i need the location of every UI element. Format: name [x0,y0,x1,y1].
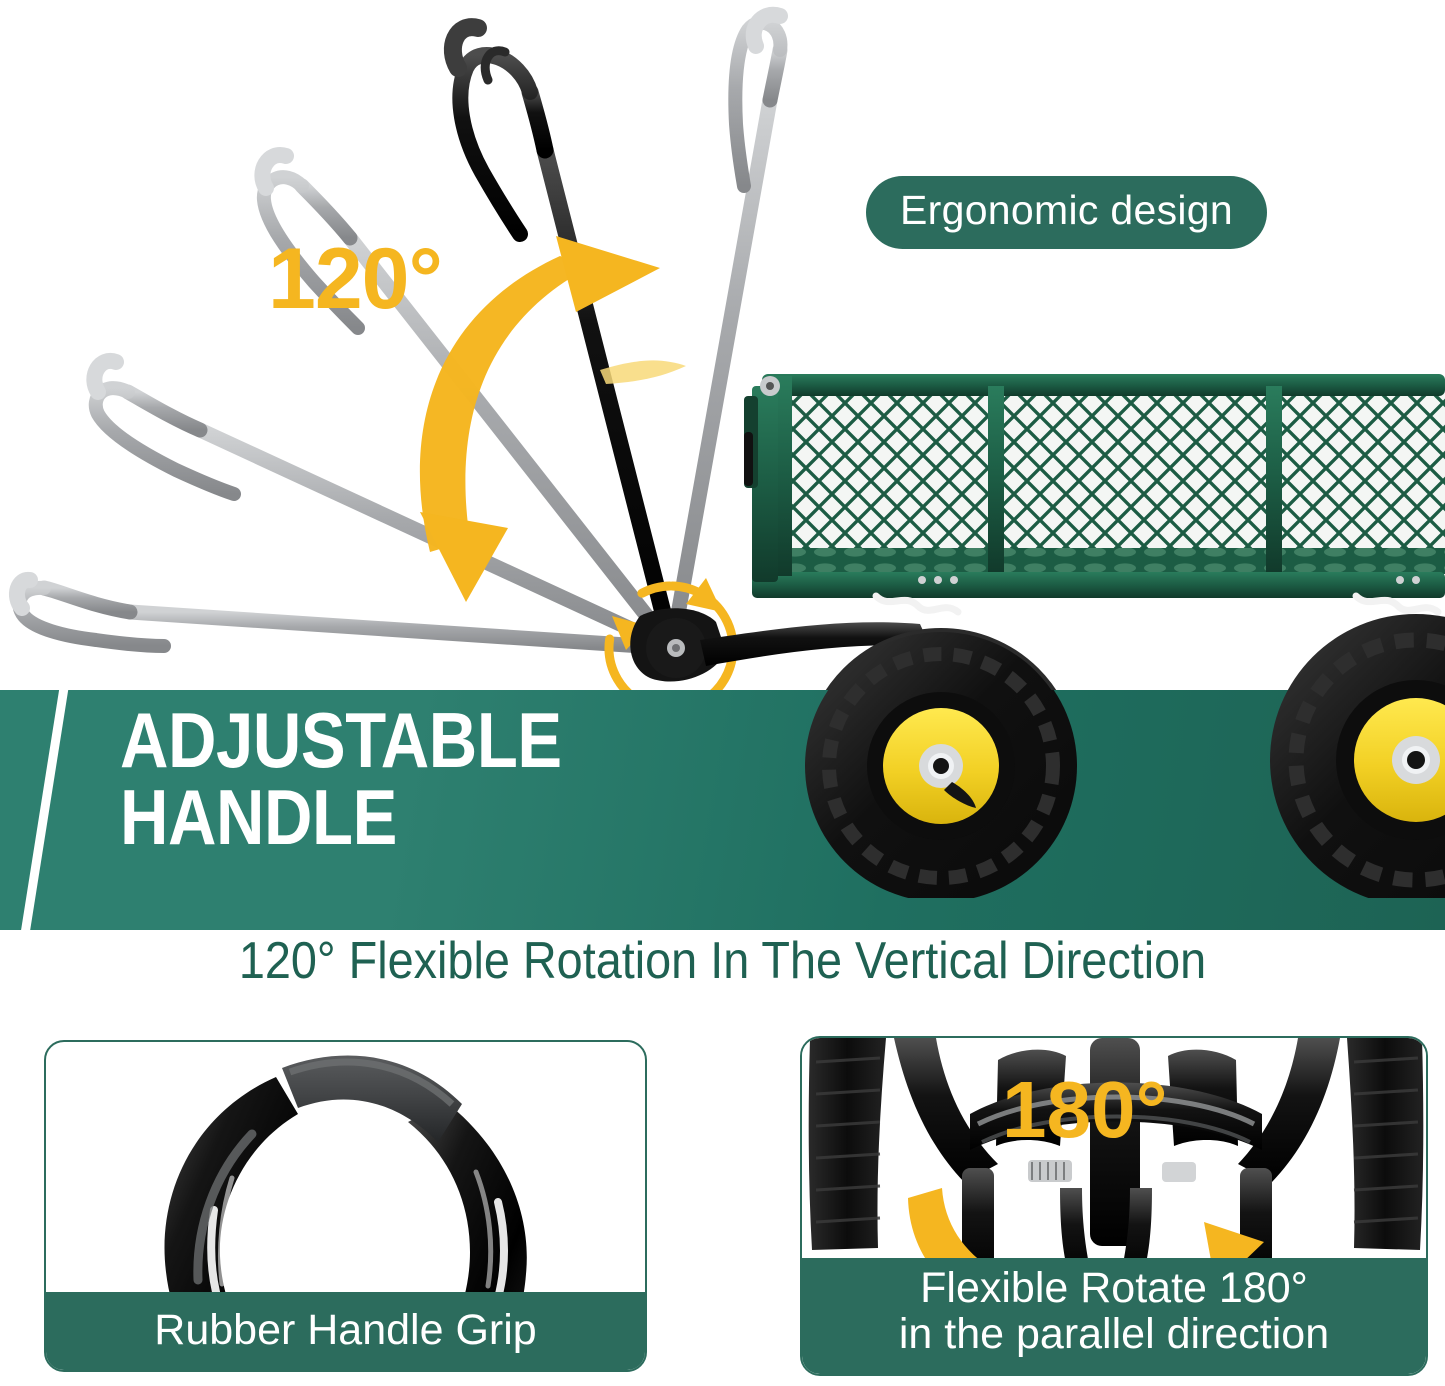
handle-ghost-icon [17,15,780,648]
rubber-handle-grip-card: Rubber Handle Grip [44,1040,647,1372]
handle-rotation-diagram [0,0,1445,700]
ergonomic-design-label: Ergonomic design [900,187,1233,233]
flexible-rotate-caption-line1: Flexible Rotate 180° [802,1266,1426,1312]
spring-hook-icon [1356,596,1438,612]
angle-label-180: 180° [1002,1070,1167,1150]
hero-illustration: Ergonomic design 120° [0,0,1445,700]
banner-accent-slash [17,690,71,930]
spring-hook-icon [876,596,958,612]
banner-title-line1: ADJUSTABLE [120,702,562,779]
rubber-grip-caption-text: Rubber Handle Grip [154,1306,536,1354]
flexible-rotate-caption: Flexible Rotate 180° in the parallel dir… [802,1258,1426,1374]
banner-subtitle: 120° Flexible Rotation In The Vertical D… [72,935,1373,987]
rotation-arrow-icon [420,236,660,602]
angle-label-120: 120° [268,236,442,322]
garden-cart-icon [744,374,1445,612]
banner-title-line2: HANDLE [120,779,562,856]
banner-title: ADJUSTABLE HANDLE [120,702,562,856]
ergonomic-design-badge: Ergonomic design [866,176,1267,249]
adjustable-handle-banner: ADJUSTABLE HANDLE [0,690,1445,930]
rubber-grip-caption: Rubber Handle Grip [46,1292,645,1370]
flexible-rotate-caption-line2: in the parallel direction [802,1312,1426,1358]
flexible-rotate-180-card: 180° Flexible Rotate 180° in the paralle… [800,1036,1428,1376]
wheel-icon [1270,614,1445,700]
product-feature-infographic: Ergonomic design 120° ADJUSTABLE HANDLE [0,0,1445,1386]
arrow-glow-icon [600,360,686,384]
